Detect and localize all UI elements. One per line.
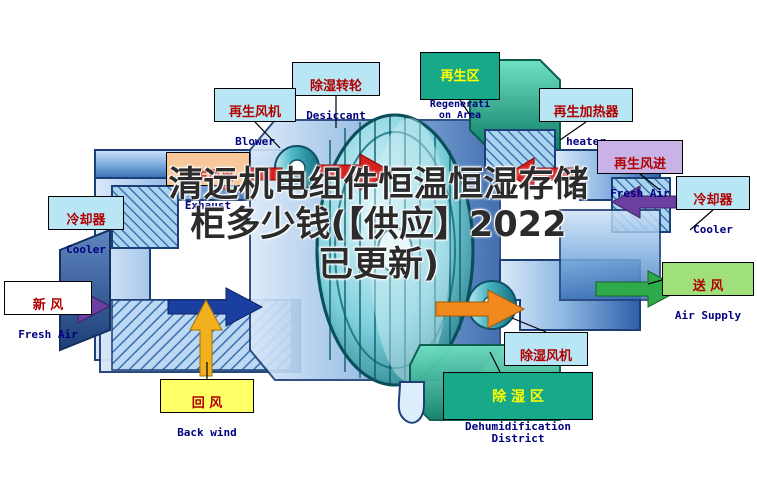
diagram-canvas: 除湿转轮 Desiccant 再生区 Regenerati on Area 再生… xyxy=(0,0,757,488)
label-dehumidification-district-en: Dehumidification District xyxy=(444,421,592,444)
watermark-line-1: 清远机电组件恒温恒湿存储 xyxy=(0,165,757,205)
label-fresh-air-en: Fresh Air xyxy=(5,329,91,341)
watermark-line-3: 已更新) xyxy=(0,245,757,285)
label-regeneration-area: 再生区 Regenerati on Area xyxy=(420,52,500,100)
label-dehumid-blower: 除湿风机 Blower xyxy=(504,332,588,366)
label-fresh-air: 新 风 Fresh Air xyxy=(4,281,92,315)
label-back-wind-cn: 回 风 xyxy=(161,397,253,411)
label-back-wind-en: Back wind xyxy=(161,427,253,439)
label-fresh-air-cn: 新 风 xyxy=(5,299,91,313)
label-desiccant-cn: 除湿转轮 xyxy=(293,80,379,94)
label-regen-blower-cn: 再生风机 xyxy=(215,106,295,120)
label-desiccant: 除湿转轮 Desiccant xyxy=(292,62,380,96)
label-regen-heater-cn: 再生加热器 xyxy=(540,106,632,120)
watermark-overlay: 清远机电组件恒温恒湿存储 柜多少钱(【供应】2022 已更新) xyxy=(0,165,757,285)
label-air-supply-en: Air Supply xyxy=(663,310,753,322)
label-regen-heater: 再生加热器 heater xyxy=(539,88,633,122)
label-regeneration-area-en: Regenerati on Area xyxy=(421,100,499,121)
watermark-line-2: 柜多少钱(【供应】2022 xyxy=(0,205,757,245)
label-regen-blower-en: Blower xyxy=(215,136,295,148)
label-dehumidification-district-cn: 除 湿 区 xyxy=(444,390,592,405)
label-back-wind: 回 风 Back wind xyxy=(160,379,254,413)
label-regen-blower: 再生风机 Blower xyxy=(214,88,296,122)
label-desiccant-en: Desiccant xyxy=(293,110,379,122)
label-dehumid-blower-cn: 除湿风机 xyxy=(505,350,587,364)
label-dehumidification-district: 除 湿 区 Dehumidification District xyxy=(443,372,593,420)
label-regeneration-area-cn: 再生区 xyxy=(421,70,499,84)
